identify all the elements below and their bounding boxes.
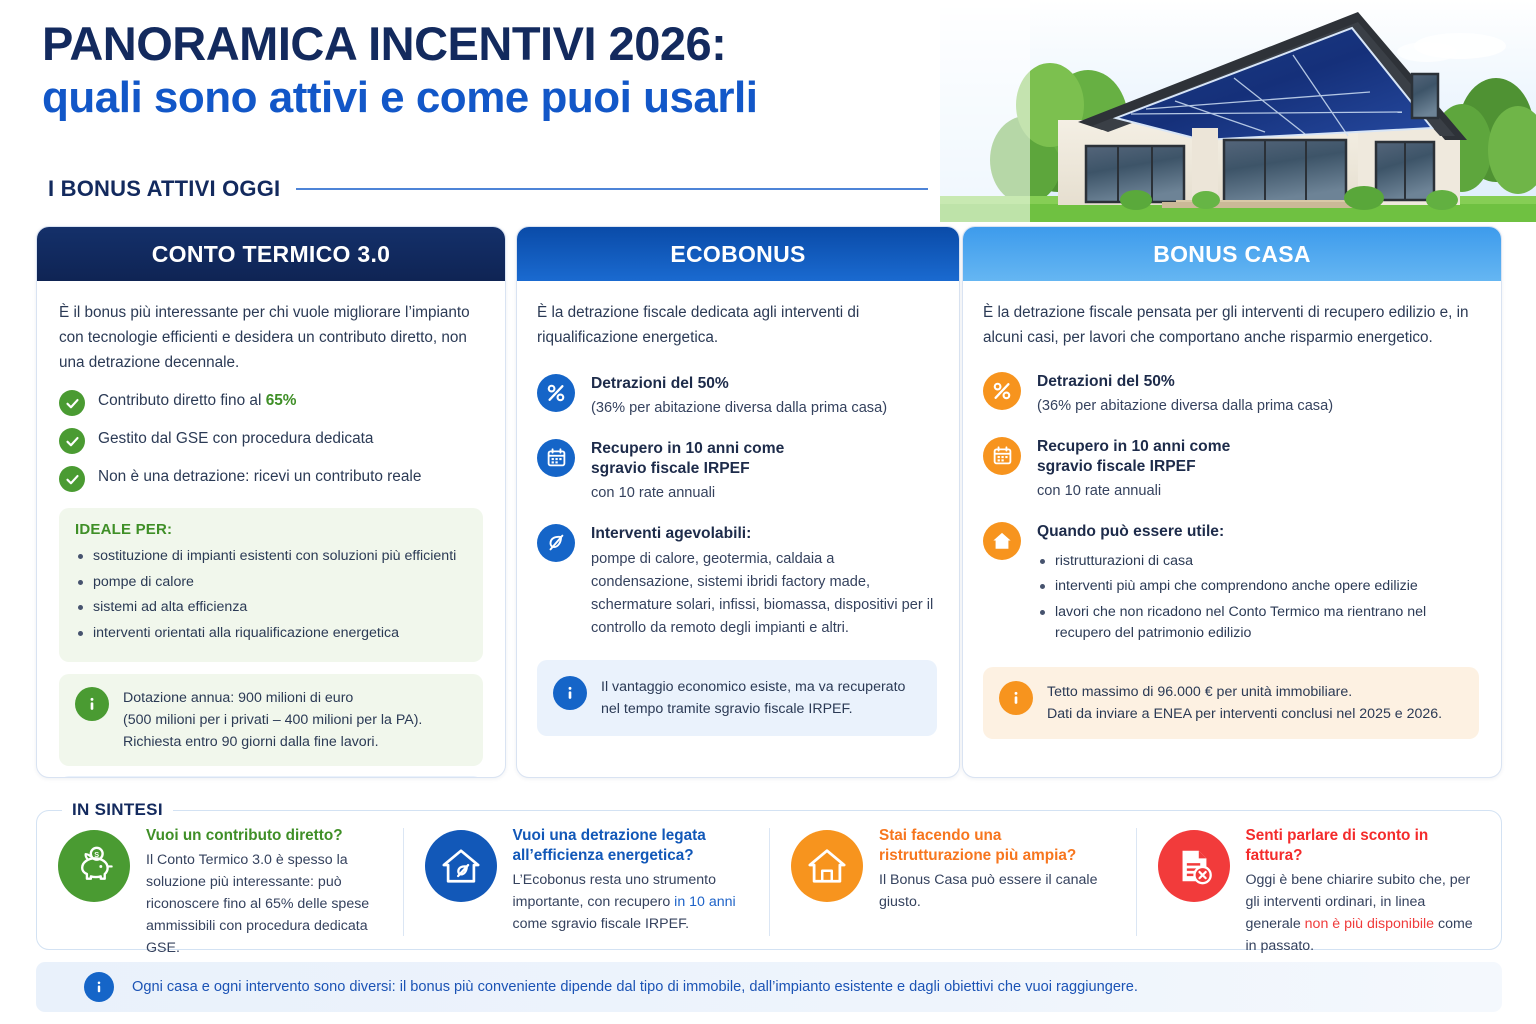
synthesis-section: IN SINTESI S Vuoi un contributo diretto? — [36, 800, 1502, 950]
title-line-2: quali sono attivi e come puoi usarli — [42, 73, 942, 123]
check-item: Contributo diretto fino al 65% — [59, 389, 483, 416]
check-circle-icon — [59, 428, 85, 454]
synthesis-title: Stai facendo una ristrutturazione più am… — [879, 826, 1118, 866]
feature-title: Detrazioni del 50% — [1037, 372, 1333, 392]
feature-subtitle: (36% per abitazione diversa dalla prima … — [1037, 395, 1333, 418]
list-item: pompe di calore — [75, 572, 467, 594]
synthesis-col-ecobonus: Vuoi una detrazione legata all’efficienz… — [403, 810, 770, 950]
card-intro-bonus-casa: È la detrazione fiscale pensata per gli … — [983, 301, 1479, 351]
footer-note: Ogni casa e ogni intervento sono diversi… — [36, 962, 1502, 1012]
synthesis-col-bonus-casa: Stai facendo una ristrutturazione più am… — [769, 810, 1136, 950]
section-kicker: I BONUS ATTIVI OGGI — [48, 176, 928, 202]
synthesis-col-conto-termico: S Vuoi un contributo diretto? Il Conto T… — [36, 810, 403, 950]
card-intro-ecobonus: È la detrazione fiscale dedicata agli in… — [537, 301, 937, 351]
list-item: interventi più ampi che comprendono anch… — [1037, 576, 1479, 598]
feature-quando-utile: Quando può essere utile: ristrutturazion… — [983, 521, 1479, 649]
title-line-1: PANORAMICA INCENTIVI 2026: — [42, 18, 942, 71]
check-label: Contributo diretto fino al 65% — [98, 389, 297, 412]
synthesis-text: Oggi è bene chiarire subito che, per gli… — [1246, 869, 1485, 957]
card-intro-conto-termico: È il bonus più interessante per chi vuol… — [59, 301, 483, 375]
feature-detrazioni: Detrazioni del 50% (36% per abitazione d… — [983, 371, 1479, 418]
feature-subtitle: con 10 rate annuali — [591, 482, 784, 505]
house-icon — [791, 830, 863, 902]
synthesis-text-highlight: non è più disponibile — [1305, 916, 1434, 932]
info-icon — [75, 687, 109, 721]
synthesis-text-highlight: in 10 anni — [674, 894, 736, 910]
page-title: PANORAMICA INCENTIVI 2026: quali sono at… — [42, 18, 942, 123]
section-kicker-label: I BONUS ATTIVI OGGI — [48, 176, 280, 202]
ideale-per-box: IDEALE PER: sostituzione di impianti esi… — [59, 508, 483, 661]
check-circle-icon — [59, 390, 85, 416]
percent-icon — [983, 372, 1021, 410]
synthesis-text-post: come sgravio fiscale IRPEF. — [513, 916, 690, 932]
feature-title: Detrazioni del 50% — [591, 374, 887, 394]
card-title-bonus-casa: BONUS CASA — [963, 227, 1501, 281]
feature-title: Recupero in 10 anni come sgravio fiscale… — [591, 439, 784, 480]
feature-recupero: Recupero in 10 anni come sgravio fiscale… — [983, 436, 1479, 504]
check-text-pre: Contributo diretto fino al — [98, 392, 266, 409]
footer-text: Ogni casa e ogni intervento sono diversi… — [132, 979, 1138, 995]
feature-title: Interventi agevolabili: — [591, 524, 937, 544]
kicker-divider — [296, 188, 928, 190]
info-icon — [84, 972, 114, 1002]
list-item: lavori che non ricadono nel Conto Termic… — [1037, 602, 1479, 645]
check-label: Gestito dal GSE con procedura dedicata — [98, 427, 373, 450]
list-item: sostituzione di impianti esistenti con s… — [75, 546, 467, 568]
dotazione-info-text: Dotazione annua: 900 milioni di euro (50… — [123, 687, 422, 753]
house-with-solar-panels-photo — [940, 0, 1536, 222]
document-x-icon — [1158, 830, 1230, 902]
ecobonus-info-text: Il vantaggio economico esiste, ma va rec… — [601, 676, 905, 720]
feature-subtitle: pompe di calore, geotermia, caldaia a co… — [591, 548, 937, 640]
calendar-icon — [983, 437, 1021, 475]
bonus-casa-info-box: Tetto massimo di 96.000 € per unità immo… — [983, 667, 1479, 739]
synthesis-title: Senti parlare di sconto in fattura? — [1246, 826, 1485, 866]
card-conto-termico: CONTO TERMICO 3.0 È il bonus più interes… — [36, 226, 506, 778]
leaf-icon — [537, 524, 575, 562]
synthesis-text: Il Bonus Casa può essere il canale giust… — [879, 869, 1118, 913]
synthesis-title: Vuoi una detrazione legata all’efficienz… — [513, 826, 752, 866]
card-title-conto-termico: CONTO TERMICO 3.0 — [37, 227, 505, 281]
percent-icon — [537, 374, 575, 412]
synthesis-text: L’Ecobonus resta uno strumento important… — [513, 869, 752, 935]
ecobonus-info-box: Il vantaggio economico esiste, ma va rec… — [537, 660, 937, 736]
card-title-ecobonus: ECOBONUS — [517, 227, 959, 281]
feature-interventi: Interventi agevolabili: pompe di calore,… — [537, 523, 937, 639]
info-icon — [999, 681, 1033, 715]
pagamento-box: Pagamento con bonifico bancario direttam… — [59, 776, 483, 778]
card-ecobonus: ECOBONUS È la detrazione fiscale dedicat… — [516, 226, 960, 778]
synthesis-label: IN SINTESI — [62, 800, 173, 820]
list-item: interventi orientati alla riqualificazio… — [75, 623, 467, 645]
ideale-per-list: sostituzione di impianti esistenti con s… — [75, 546, 467, 644]
synthesis-columns: S Vuoi un contributo diretto? Il Conto T… — [36, 810, 1502, 950]
feature-title: Recupero in 10 anni come sgravio fiscale… — [1037, 437, 1230, 478]
home-icon — [983, 522, 1021, 560]
synthesis-col-sconto-fattura: Senti parlare di sconto in fattura? Oggi… — [1136, 810, 1503, 950]
feature-title: Quando può essere utile: — [1037, 522, 1479, 542]
feature-detrazioni: Detrazioni del 50% (36% per abitazione d… — [537, 373, 937, 420]
info-icon — [553, 676, 587, 710]
synthesis-text: Il Conto Termico 3.0 è spesso la soluzio… — [146, 849, 385, 959]
feature-subtitle: (36% per abitazione diversa dalla prima … — [591, 397, 887, 420]
synthesis-divider — [186, 810, 1476, 811]
feature-recupero: Recupero in 10 anni come sgravio fiscale… — [537, 438, 937, 506]
check-label: Non è una detrazione: ricevi un contribu… — [98, 465, 421, 488]
calendar-icon — [537, 439, 575, 477]
piggy-bank-icon: S — [58, 830, 130, 902]
synthesis-title: Vuoi un contributo diretto? — [146, 826, 385, 846]
check-item: Gestito dal GSE con procedura dedicata — [59, 427, 483, 454]
house-leaf-icon — [425, 830, 497, 902]
check-item: Non è una detrazione: ricevi un contribu… — [59, 465, 483, 492]
card-bonus-casa: BONUS CASA È la detrazione fiscale pensa… — [962, 226, 1502, 778]
dotazione-info-box: Dotazione annua: 900 milioni di euro (50… — [59, 674, 483, 766]
feature-subtitle: con 10 rate annuali — [1037, 480, 1230, 503]
ideale-per-title: IDEALE PER: — [75, 521, 467, 538]
bonus-casa-info-text: Tetto massimo di 96.000 € per unità immo… — [1047, 681, 1442, 725]
bonus-cards-row: CONTO TERMICO 3.0 È il bonus più interes… — [0, 226, 1536, 782]
check-circle-icon — [59, 466, 85, 492]
list-item: ristrutturazioni di casa — [1037, 551, 1479, 573]
quando-utile-list: ristrutturazioni di casa interventi più … — [1037, 551, 1479, 645]
list-item: sistemi ad alta efficienza — [75, 597, 467, 619]
hero-section: PANORAMICA INCENTIVI 2026: quali sono at… — [0, 0, 1536, 222]
check-text-highlight: 65% — [266, 392, 297, 409]
infographic-page: PANORAMICA INCENTIVI 2026: quali sono at… — [0, 0, 1536, 1024]
